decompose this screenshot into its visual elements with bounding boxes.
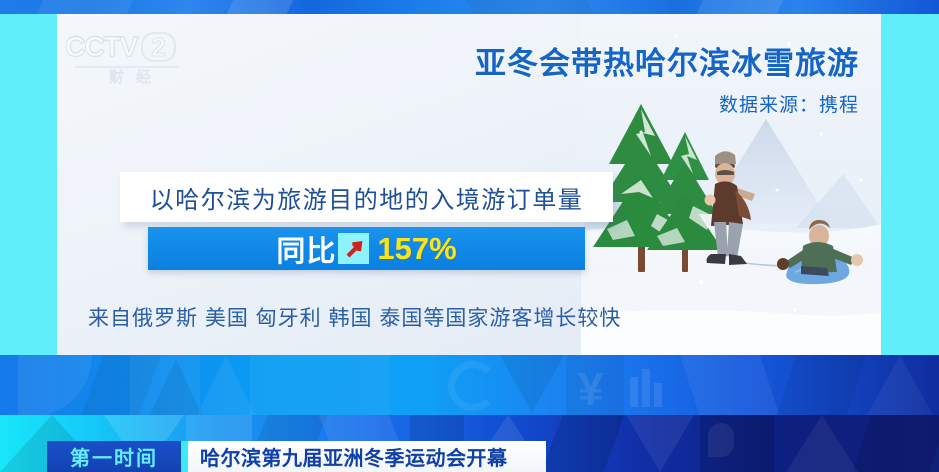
cctv-logo-number: 2 — [141, 32, 175, 62]
main-content-panel: CCTV2 财经 亚冬会带热哈尔滨冰雪旅游 数据来源：携程 以哈尔滨为旅游目的地… — [57, 14, 881, 355]
cctv-logo-subtitle: 财经 — [65, 66, 195, 87]
banner-shape — [776, 355, 866, 417]
arrow-up-right-icon — [338, 233, 369, 264]
yoy-value: 157% — [377, 231, 456, 267]
metric-value-bar: 同比 157% — [148, 227, 585, 270]
banner-bar-glyph — [654, 383, 662, 407]
data-source-label: 数据来源：携程 — [475, 90, 859, 117]
banner-shape — [250, 355, 390, 417]
band-shape — [467, 0, 594, 14]
supporting-note: 来自俄罗斯 美国 匈牙利 韩国 泰国等国家游客增长较快 — [88, 302, 621, 332]
banner-shape — [680, 355, 780, 417]
banner-shape — [500, 355, 564, 413]
cctv-logo-underline — [75, 66, 179, 68]
band-shape — [37, 0, 134, 14]
ticker-accent-bar — [181, 441, 188, 472]
ticker-headline-box[interactable]: 哈尔滨第九届亚洲冬季运动会开幕 — [188, 441, 546, 472]
page-title: 亚冬会带热哈尔滨冰雪旅游 — [475, 44, 859, 84]
program-name-tag[interactable]: 第一时间 — [47, 441, 181, 472]
cctv-logo-text: CCTV — [65, 32, 137, 62]
banner-shape — [18, 355, 92, 417]
banner-refresh-glyph — [448, 361, 498, 411]
banner-bar-glyph — [630, 377, 638, 407]
banner-shape — [196, 355, 256, 417]
band-shape — [227, 0, 294, 14]
metric-description-text: 以哈尔滨为旅游目的地的入境游订单量 — [150, 180, 584, 215]
band-shape — [697, 0, 784, 14]
metric-description-card: 以哈尔滨为旅游目的地的入境游订单量 — [120, 172, 613, 222]
yoy-label: 同比 — [276, 228, 336, 270]
banner-bar-glyph — [642, 369, 650, 407]
banner-shape — [150, 359, 202, 415]
cctv-channel-logo: CCTV2 财经 — [65, 32, 195, 98]
headline-block: 亚冬会带热哈尔滨冰雪旅游 数据来源：携程 — [475, 44, 859, 117]
ticker-headline-text: 哈尔滨第九届亚洲冬季运动会开幕 — [200, 442, 508, 471]
banner-shape — [866, 355, 934, 417]
top-decorative-band — [0, 0, 939, 14]
left-cyan-margin — [0, 14, 57, 355]
banner-yen-glyph: ¥ — [578, 369, 604, 409]
right-cyan-margin — [881, 14, 939, 355]
news-ticker: 第一时间 哈尔滨第九届亚洲冬季运动会开幕 — [0, 441, 939, 472]
program-name-label: 第一时间 — [70, 442, 158, 471]
